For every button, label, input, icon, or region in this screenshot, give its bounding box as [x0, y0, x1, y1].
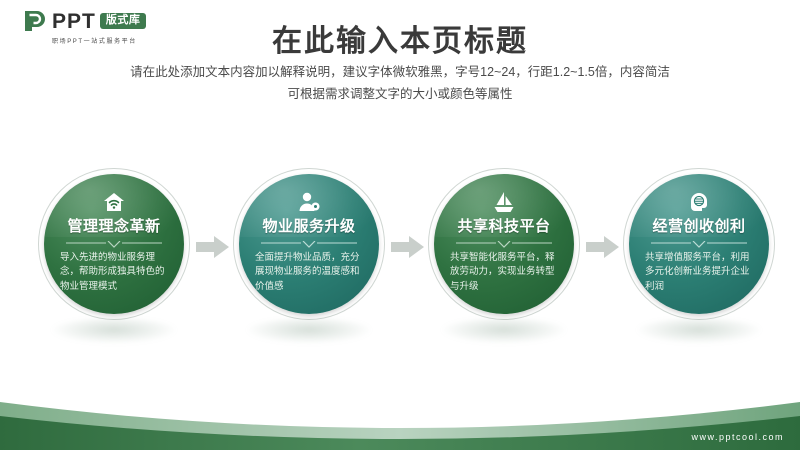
slide-canvas: PPT 版式库 职场PPT一站式服务平台 在此输入本页标题 请在此处添加文本内容… [0, 0, 800, 450]
page-title: 在此输入本页标题 [0, 16, 800, 60]
subtitle-line-1: 请在此处添加文本内容加以解释说明，建议字体微软雅黑，字号12~24，行距1.2~… [0, 62, 800, 84]
node-title: 物业服务升级 [262, 215, 355, 236]
arrow-right-icon [196, 236, 230, 258]
node-divider-icon [651, 241, 747, 248]
house-wifi-icon [103, 192, 125, 212]
arrow-right-icon [586, 236, 620, 258]
arrow-right-icon [391, 236, 425, 258]
node-shadow [50, 318, 178, 344]
process-node-3[interactable]: 共享科技平台 共享智能化服务平台，释放劳动力，实现业务转型与升级 [428, 168, 580, 320]
node-description: 共享智能化服务平台，释放劳动力，实现业务转型与升级 [450, 251, 558, 294]
node-disc: 管理理念革新 导入先进的物业服务理念，帮助形成独具特色的物业管理模式 [44, 174, 184, 314]
subtitle-line-2: 可根据需求调整文字的大小或颜色等属性 [0, 84, 800, 106]
page-subtitle: 请在此处添加文本内容加以解释说明，建议字体微软雅黑，字号12~24，行距1.2~… [0, 62, 800, 106]
node-title: 经营创收创利 [652, 215, 745, 236]
node-divider-icon [261, 241, 357, 248]
node-description: 共享增值服务平台，利用多元化创新业务提升企业利润 [645, 251, 753, 294]
process-node-1[interactable]: 管理理念革新 导入先进的物业服务理念，帮助形成独具特色的物业管理模式 [38, 168, 190, 320]
node-description: 全面提升物业品质，充分展现物业服务的温度感和价值感 [255, 251, 363, 294]
sailboat-icon [493, 192, 515, 212]
node-shadow [245, 318, 373, 344]
node-divider-icon [66, 241, 162, 248]
node-disc: 共享科技平台 共享智能化服务平台，释放劳动力，实现业务转型与升级 [434, 174, 574, 314]
curved-green-band [0, 394, 800, 450]
process-node-2[interactable]: 物业服务升级 全面提升物业品质，充分展现物业服务的温度感和价值感 [233, 168, 385, 320]
footer-band: www.pptcool.com [0, 394, 800, 450]
node-divider-icon [456, 241, 552, 248]
footer-url[interactable]: www.pptcool.com [691, 432, 784, 442]
process-node-4[interactable]: 经营创收创利 共享增值服务平台，利用多元化创新业务提升企业利润 [623, 168, 775, 320]
node-disc: 经营创收创利 共享增值服务平台，利用多元化创新业务提升企业利润 [629, 174, 769, 314]
head-brain-idea-icon [688, 192, 710, 212]
node-title: 共享科技平台 [457, 215, 550, 236]
user-gear-icon [298, 192, 320, 212]
node-title: 管理理念革新 [67, 215, 160, 236]
node-shadow [440, 318, 568, 344]
process-row: 管理理念革新 导入先进的物业服务理念，帮助形成独具特色的物业管理模式 [0, 168, 800, 328]
node-shadow [635, 318, 763, 344]
node-disc: 物业服务升级 全面提升物业品质，充分展现物业服务的温度感和价值感 [239, 174, 379, 314]
node-description: 导入先进的物业服务理念，帮助形成独具特色的物业管理模式 [60, 251, 168, 294]
